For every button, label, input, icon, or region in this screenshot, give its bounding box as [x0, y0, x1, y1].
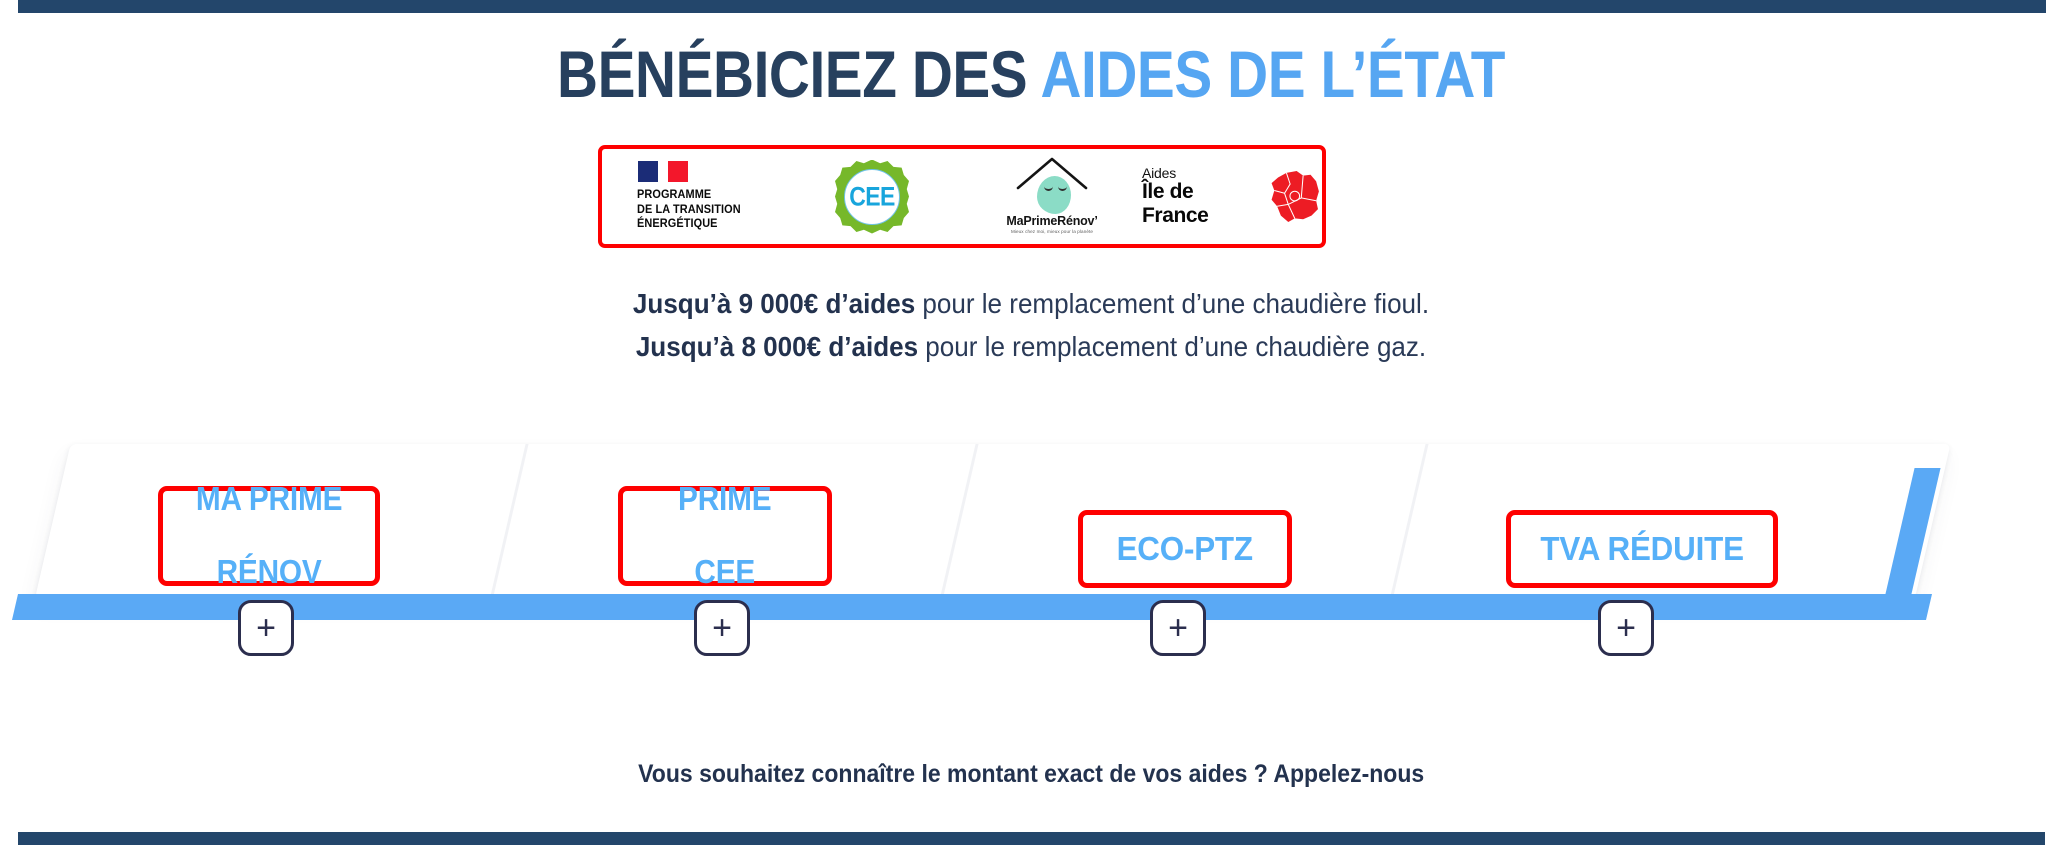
page-title-dark-part: BÉNÉBICIEZ DES	[557, 37, 1040, 111]
page-title: BÉNÉBICIEZ DES AIDES DE L’ÉTAT	[144, 40, 1917, 109]
idf-small-label: Aides	[1142, 166, 1260, 181]
pte-line-3: ÉNERGÉTIQUE	[637, 217, 741, 232]
expand-button-prime-cee[interactable]: +	[694, 600, 750, 656]
aid-card-eco-ptz[interactable]: ECO-PTZ	[1078, 510, 1292, 588]
bottom-accent-bar	[18, 832, 2045, 845]
aid-card-1-line1: MA PRIME	[196, 481, 342, 518]
expand-button-eco-ptz[interactable]: +	[1150, 600, 1206, 656]
aid-amount-1-rest: pour le remplacement d’une chaudière fio…	[915, 288, 1429, 319]
aid-amount-1-bold: Jusqu’à 9 000€ d’aides	[633, 288, 915, 319]
aid-cards-section: MA PRIME RÉNOV + PRIME CEE + ECO-PTZ + T…	[0, 444, 2062, 664]
smile-eye-left-icon	[1044, 184, 1053, 191]
french-flag-icon	[638, 161, 746, 182]
logo-programme-transition-energetique: PROGRAMME DE LA TRANSITION ÉNERGÉTIQUE	[602, 149, 782, 244]
top-accent-bar	[18, 0, 2046, 13]
smile-eye-right-icon	[1058, 184, 1067, 191]
logo-aides-ile-de-france: Aides Île de France	[1142, 149, 1322, 244]
aid-amount-line-1: Jusqu’à 9 000€ d’aides pour le remplacem…	[72, 282, 1990, 325]
aid-amount-line-2: Jusqu’à 8 000€ d’aides pour le remplacem…	[72, 325, 1990, 368]
cee-badge-icon: CEE	[835, 160, 909, 234]
page-title-light-part: AIDES DE L’ÉTAT	[1040, 37, 1504, 111]
pte-line-1: PROGRAMME	[637, 188, 741, 203]
cee-label: CEE	[849, 181, 895, 213]
cta-label: Vous souhaitez connaître le montant exac…	[638, 760, 1424, 789]
aid-card-2-line2: CEE	[678, 554, 771, 591]
partner-logo-strip: PROGRAMME DE LA TRANSITION ÉNERGÉTIQUE C…	[598, 145, 1326, 248]
plus-icon: +	[1168, 611, 1188, 645]
maprimerenov-blob-icon	[1037, 176, 1071, 214]
plus-icon: +	[256, 611, 276, 645]
aid-card-3-line1: ECO-PTZ	[1117, 531, 1253, 568]
aid-card-prime-cee[interactable]: PRIME CEE	[618, 486, 832, 586]
pte-line-2: DE LA TRANSITION	[637, 203, 741, 218]
aid-amount-2-bold: Jusqu’à 8 000€ d’aides	[636, 331, 918, 362]
maprimerenov-tagline: Mieux chez moi, mieux pour la planète	[990, 229, 1114, 234]
call-to-action-text: Vous souhaitez connaître le montant exac…	[0, 760, 2062, 789]
plus-icon: +	[712, 611, 732, 645]
aid-card-2-line1: PRIME	[678, 481, 771, 518]
aid-card-ma-prime-renov[interactable]: MA PRIME RÉNOV	[158, 486, 380, 586]
logo-cee: CEE	[782, 149, 962, 244]
idf-big-label: Île de France	[1142, 180, 1260, 227]
aid-card-1-line2: RÉNOV	[196, 554, 342, 591]
maprimerenov-name: MaPrimeRénov’	[990, 214, 1114, 228]
logo-maprimerenov: MaPrimeRénov’ Mieux chez moi, mieux pour…	[962, 149, 1142, 244]
ile-de-france-map-icon	[1266, 168, 1322, 226]
plus-icon: +	[1616, 611, 1636, 645]
expand-button-ma-prime-renov[interactable]: +	[238, 600, 294, 656]
aid-amount-2-rest: pour le remplacement d’une chaudière gaz…	[918, 331, 1426, 362]
expand-button-tva-reduite[interactable]: +	[1598, 600, 1654, 656]
aid-card-tva-reduite[interactable]: TVA RÉDUITE	[1506, 510, 1778, 588]
aid-amount-lines: Jusqu’à 9 000€ d’aides pour le remplacem…	[0, 282, 2062, 369]
aid-card-4-line1: TVA RÉDUITE	[1540, 531, 1743, 568]
